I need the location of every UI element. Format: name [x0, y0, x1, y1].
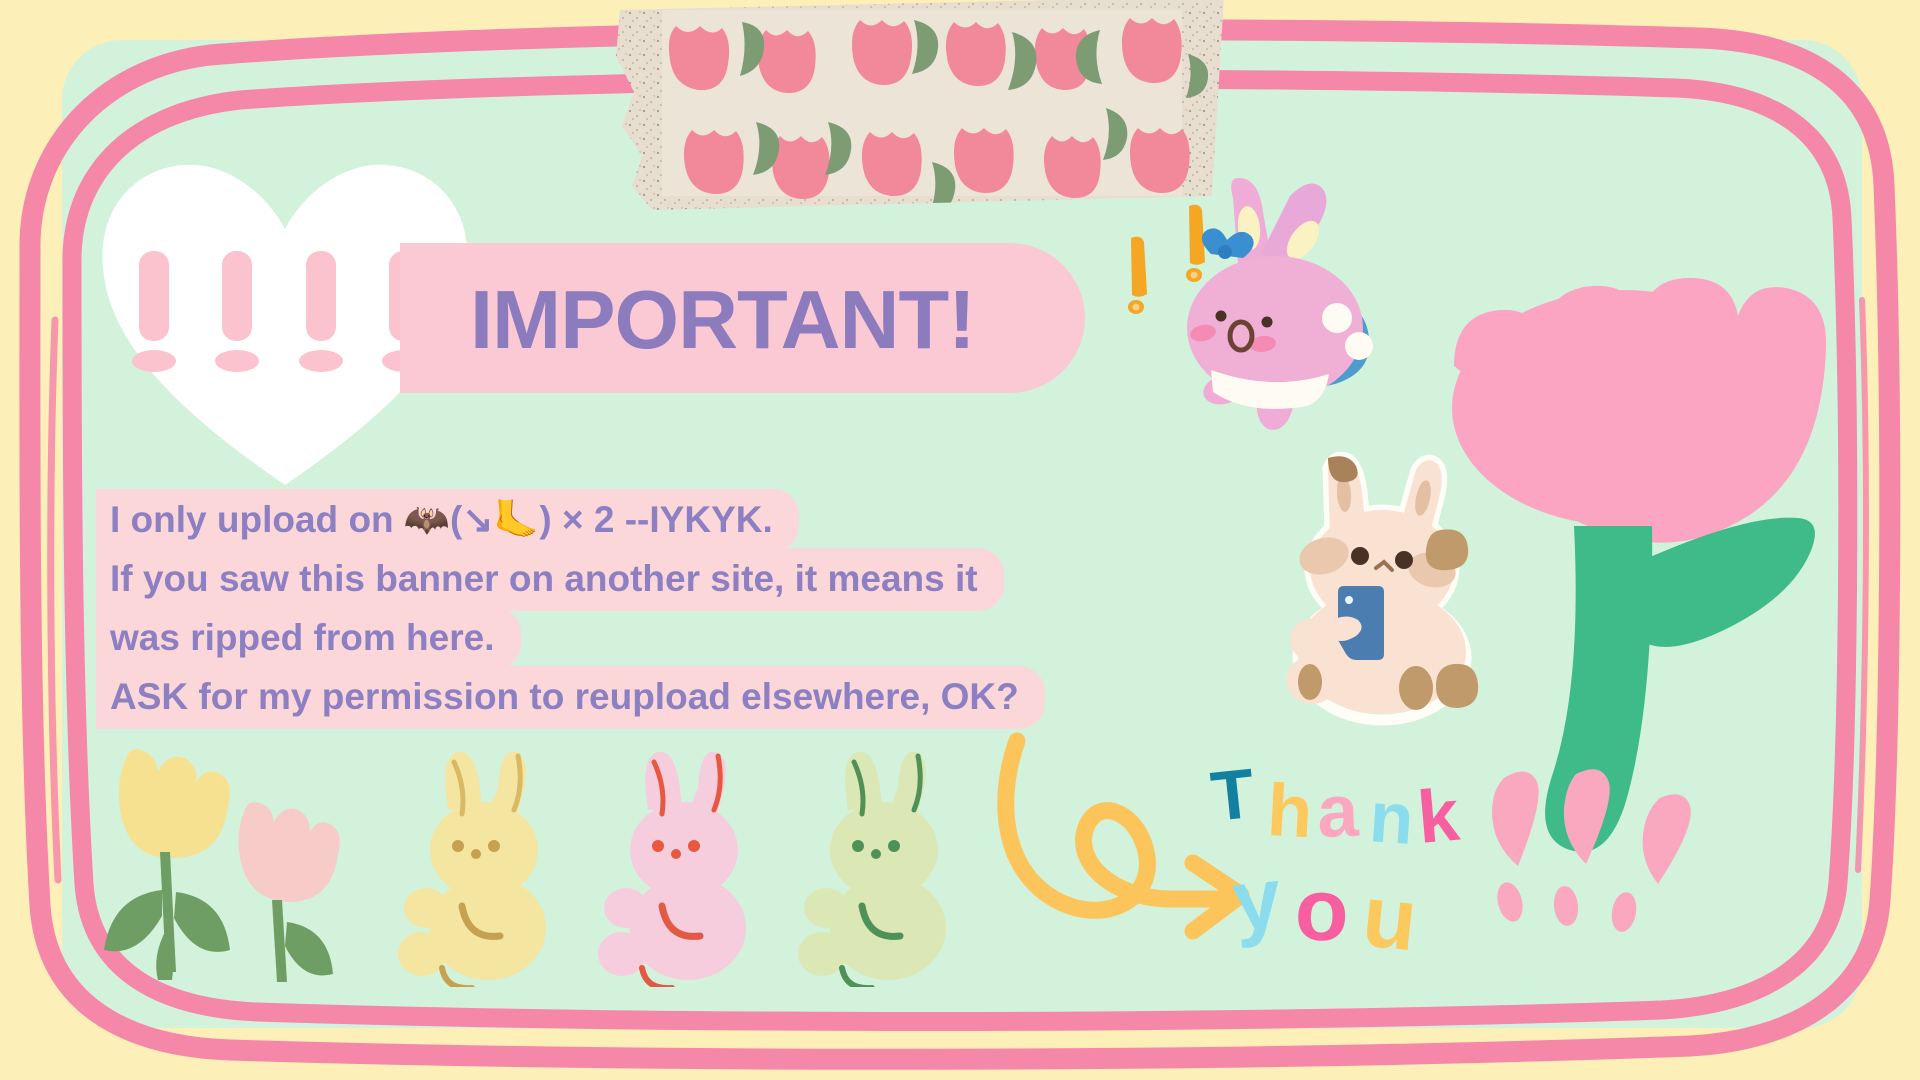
body-line-4-text: ASK for my permission to reupload elsewh…: [96, 666, 1045, 729]
thankyou-letter-h: h: [1265, 768, 1314, 853]
exclaim-marks: [1128, 205, 1205, 314]
body-line-1: I only upload on 🦇(↘🦶) × 2 --IYKYK.: [96, 490, 1206, 549]
thankyou-letter-k: k: [1414, 773, 1463, 859]
page-title: IMPORTANT!: [470, 255, 1110, 385]
green-bunny-cookie: [798, 752, 946, 987]
body-line-2: If you saw this banner on another site, …: [96, 549, 1206, 608]
thankyou-letter-n: n: [1367, 777, 1416, 860]
body-line-3: was ripped from here.: [96, 608, 1206, 667]
flying-bunny-illustration: [1115, 178, 1425, 473]
thankyou-letter-o: o: [1293, 859, 1350, 950]
bunny-cookies-illustration: [398, 742, 988, 987]
pink-bunny-cookie: [598, 752, 746, 987]
yellow-bunny-cookie: [398, 752, 546, 987]
thankyou-letter-u: u: [1358, 865, 1422, 950]
decorative-banner: IMPORTANT! I only upload on 🦇(↘🦶) × 2 --…: [0, 0, 1920, 1080]
thankyou-letter-a: a: [1316, 769, 1361, 853]
small-tulips-illustration: [92, 742, 362, 992]
body-line-3-text: was ripped from here.: [96, 607, 521, 670]
body-line-1-text: I only upload on 🦇(↘🦶) × 2 --IYKYK.: [96, 489, 799, 552]
thank-you-lettering: T h a n k y o u: [1208, 755, 1528, 950]
thankyou-letter-T: T: [1208, 755, 1258, 836]
body-text-block: I only upload on 🦇(↘🦶) × 2 --IYKYK. If y…: [96, 490, 1206, 726]
body-line-2-text: If you saw this banner on another site, …: [96, 548, 1004, 611]
thankyou-letter-y: y: [1228, 849, 1286, 949]
